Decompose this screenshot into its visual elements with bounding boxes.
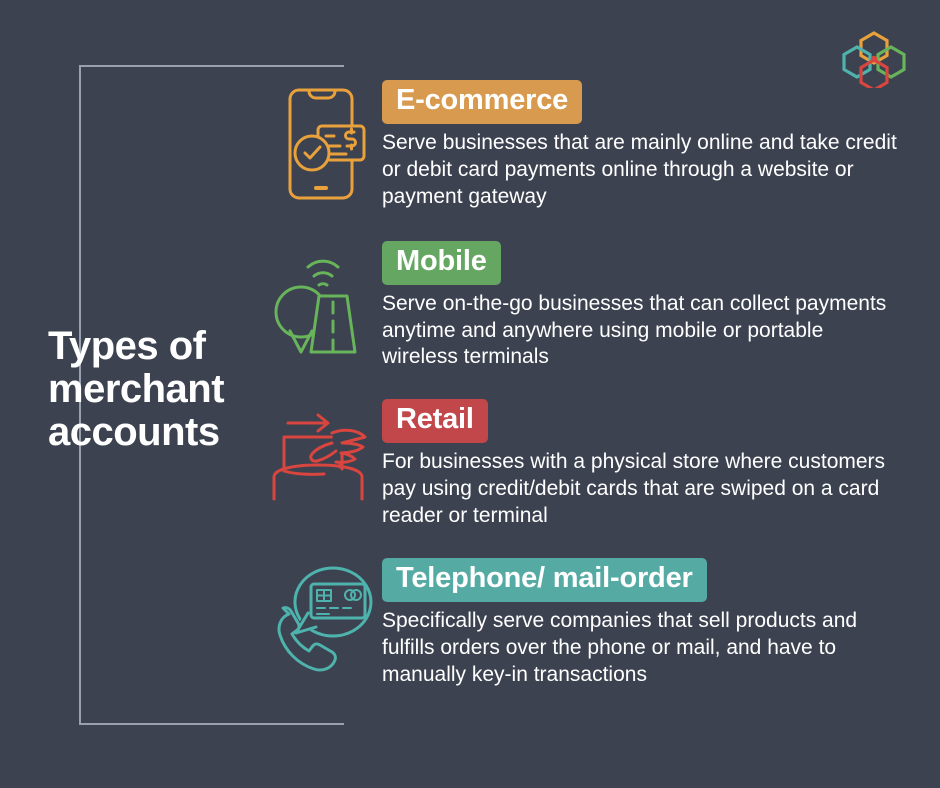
badge-mobile: Mobile — [382, 241, 501, 285]
list-item-mobile: Mobile Serve on-the-go businesses that c… — [262, 239, 922, 372]
logo-hexagon-right — [878, 47, 904, 77]
logo-center-dot — [871, 56, 877, 62]
badge-telephone: Telephone/ mail-order — [382, 558, 707, 602]
page-title: Types of merchant accounts — [48, 325, 298, 455]
description-mobile: Serve on-the-go businesses that can coll… — [382, 291, 902, 372]
icon-cell-mobile — [262, 239, 382, 359]
badge-ecommerce: E-commerce — [382, 80, 582, 124]
logo-hexagon-left — [844, 47, 870, 77]
merchant-account-types-list: E-commerce Serve businesses that are mai… — [262, 78, 922, 689]
body-cell-retail: Retail For businesses with a physical st… — [382, 397, 922, 530]
list-item-telephone: Telephone/ mail-order Specifically serve… — [262, 556, 922, 689]
icon-cell-telephone — [262, 556, 382, 674]
body-cell-telephone: Telephone/ mail-order Specifically serve… — [382, 556, 922, 689]
list-item-ecommerce: E-commerce Serve businesses that are mai… — [262, 78, 922, 211]
location-pin-road-wifi-icon — [272, 255, 372, 359]
phone-card-payment-icon — [276, 86, 368, 202]
description-retail: For businesses with a physical store whe… — [382, 449, 902, 530]
badge-retail: Retail — [382, 399, 488, 443]
body-cell-ecommerce: E-commerce Serve businesses that are mai… — [382, 78, 922, 211]
description-telephone: Specifically serve companies that sell p… — [382, 608, 902, 689]
hand-swipe-card-terminal-icon — [270, 411, 374, 503]
list-item-retail: Retail For businesses with a physical st… — [262, 397, 922, 530]
description-ecommerce: Serve businesses that are mainly online … — [382, 130, 902, 211]
icon-cell-ecommerce — [262, 78, 382, 202]
body-cell-mobile: Mobile Serve on-the-go businesses that c… — [382, 239, 922, 372]
icon-cell-retail — [262, 397, 382, 503]
phone-handset-card-bubble-icon — [267, 562, 377, 674]
